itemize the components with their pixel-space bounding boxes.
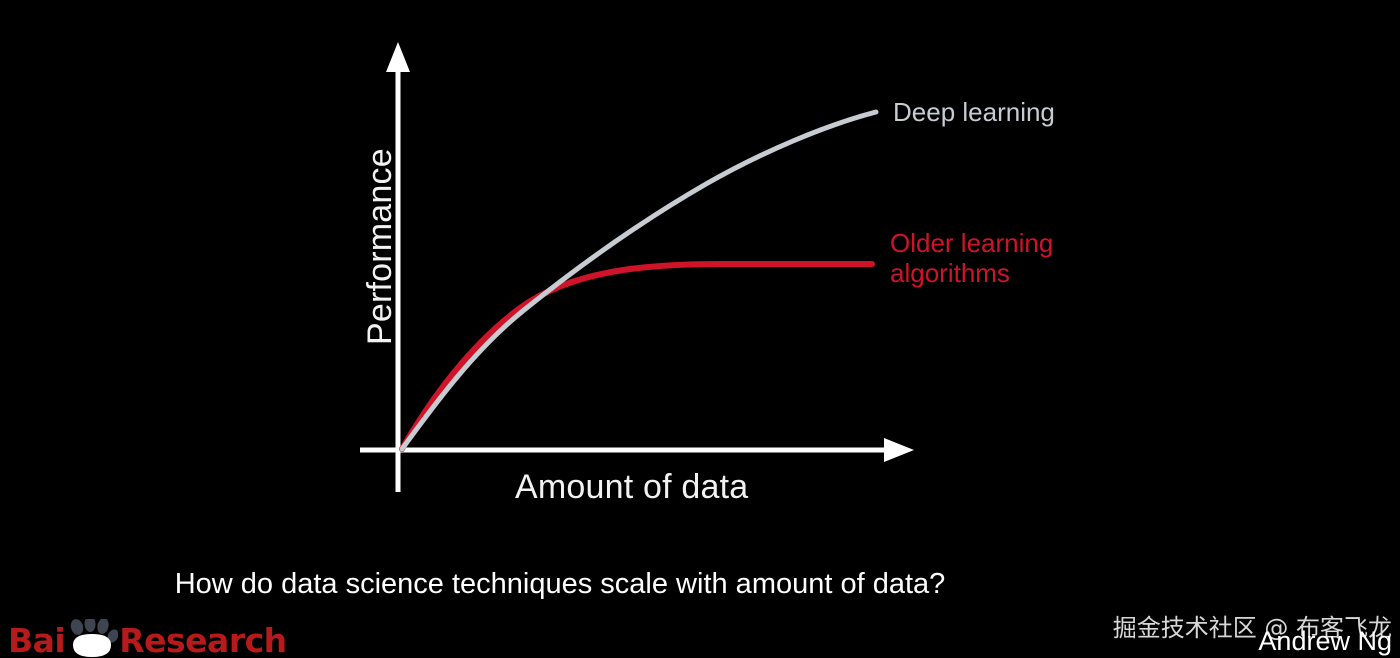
y-axis-arrowhead [386,42,410,72]
logo-word-bai: Bai [8,624,65,658]
performance-vs-data-chart [0,0,1400,658]
logo-paw-text-du: du [66,632,118,656]
author-credit: Andrew Ng [1258,626,1392,657]
y-axis-label: Performance [361,148,400,345]
baidu-paw-icon: du [66,619,118,658]
logo-word-research: Research [119,624,286,658]
baidu-research-logo: Bai du Research [8,618,287,658]
series-label-deep-learning: Deep learning [893,97,1055,127]
x-axis-label: Amount of data [515,468,748,507]
series-label-older-line-1: Older learning [890,228,1053,258]
deep-learning-curve [402,112,876,449]
x-axis-arrowhead [884,438,914,462]
series-label-older-line-2: algorithms [890,258,1053,288]
slide-canvas: Performance Amount of data Deep learning… [0,0,1400,658]
slide-caption: How do data science techniques scale wit… [0,568,1120,601]
series-label-older-algorithms: Older learning algorithms [890,228,1053,288]
